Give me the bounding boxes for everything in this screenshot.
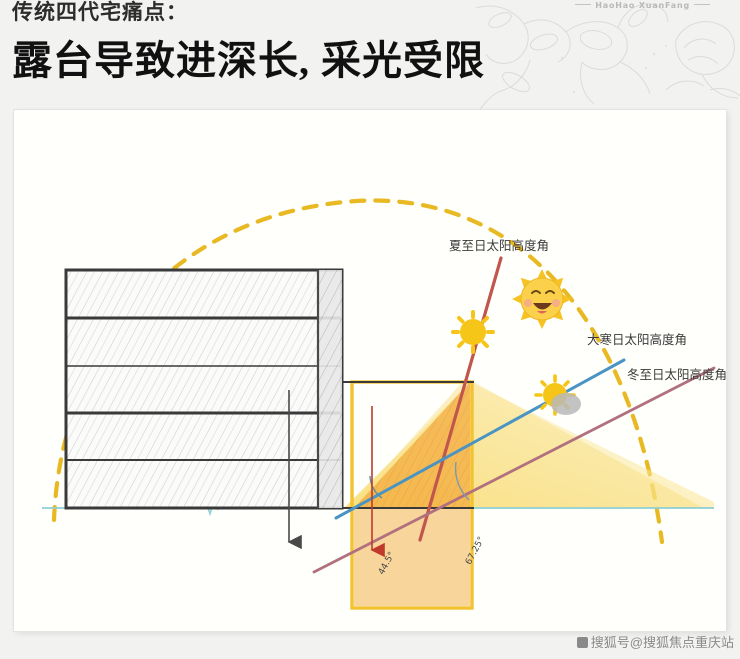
floral-background-art xyxy=(470,0,740,114)
diagram-card: 夏至日太阳高度角 大寒日太阳高度角 冬至日太阳高度角 44.5° 67.25° … xyxy=(14,110,726,631)
building-core xyxy=(318,270,342,508)
page-title: 露台导致进深长, 采光受限 xyxy=(12,28,485,86)
shadow-blob xyxy=(551,393,581,415)
sohu-logo-icon xyxy=(577,637,588,648)
watermark-top-text: HaoHao XuanFang xyxy=(595,1,690,10)
building-section xyxy=(66,270,342,508)
watermark-bottom-text: 搜狐号@搜狐焦点重庆站 xyxy=(591,635,734,650)
watermark-dash-right xyxy=(694,4,710,5)
label-major-cold-angle: 大寒日太阳高度角 xyxy=(587,329,687,348)
sun-burst-winter-icon xyxy=(536,376,581,415)
watermark-top: HaoHao XuanFang xyxy=(571,1,714,10)
sunlight-analysis-diagram xyxy=(14,110,726,631)
label-summer-solstice-angle: 夏至日太阳高度角 xyxy=(449,235,549,254)
watermark-bottom: 搜狐号@搜狐焦点重庆站 xyxy=(577,632,734,651)
watermark-dash-left xyxy=(575,4,591,5)
winter-solstice-ray xyxy=(314,368,714,572)
header-kicker: 传统四代宅痛点： xyxy=(12,0,188,26)
sun-burst-summer-icon xyxy=(453,312,493,352)
smiling-sun-icon xyxy=(511,268,573,330)
label-winter-solstice-angle: 冬至日太阳高度角 xyxy=(627,364,726,383)
